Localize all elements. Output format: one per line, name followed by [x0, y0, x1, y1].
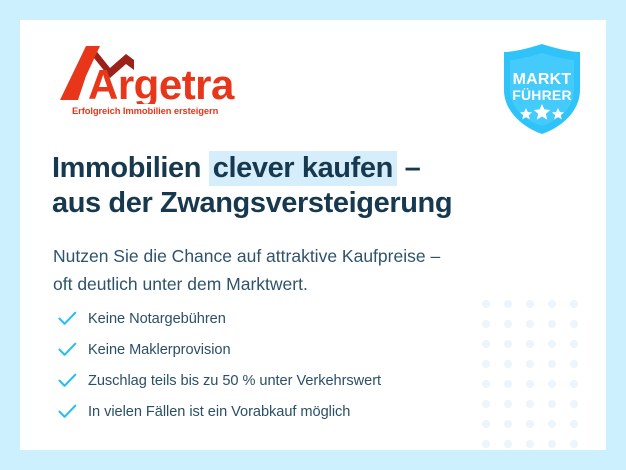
decorative-dot [548, 420, 556, 428]
list-item-label: Keine Maklerprovision [80, 342, 231, 358]
decorative-dot [504, 360, 512, 368]
decorative-dot [482, 400, 490, 408]
decorative-dot [548, 380, 556, 388]
decorative-dot [504, 300, 512, 308]
list-item: In vielen Fällen ist ein Vorabkauf mögli… [54, 396, 381, 427]
decorative-dot [548, 340, 556, 348]
decorative-dot [570, 360, 578, 368]
decorative-dot [526, 420, 534, 428]
decorative-dot [548, 440, 556, 448]
decorative-dot [548, 300, 556, 308]
check-icon [54, 308, 80, 330]
decorative-dot [570, 340, 578, 348]
page-subtitle: Nutzen Sie die Chance auf attraktive Kau… [53, 242, 573, 298]
decorative-dot [482, 320, 490, 328]
argetra-logo-icon: Argetra [56, 42, 246, 104]
headline-prefix: Immobilien [52, 152, 209, 184]
decorative-dot [526, 400, 534, 408]
headline-highlight: clever kaufen [209, 151, 397, 186]
decorative-dot [504, 340, 512, 348]
check-icon [54, 339, 80, 361]
check-icon [54, 370, 80, 392]
promo-banner: Argetra Erfolgreich Immobilien ersteiger… [0, 0, 626, 470]
decorative-dot [548, 360, 556, 368]
logo-tagline: Erfolgreich Immobilien ersteigern [72, 105, 218, 116]
decorative-dot [548, 400, 556, 408]
decorative-dot [482, 360, 490, 368]
check-icon [54, 401, 80, 423]
decorative-dot [504, 440, 512, 448]
decorative-dot [482, 420, 490, 428]
argetra-logo[interactable]: Argetra Erfolgreich Immobilien ersteiger… [56, 42, 246, 134]
decorative-dot [570, 420, 578, 428]
decorative-dot [570, 320, 578, 328]
badge-line1: MARKT [513, 71, 572, 88]
decorative-dot [570, 440, 578, 448]
list-item-label: Keine Notargebühren [80, 311, 226, 327]
svg-text:Argetra: Argetra [88, 61, 235, 104]
decorative-dot [526, 320, 534, 328]
page-title: Immobilien clever kaufen – aus der Zwang… [52, 151, 572, 221]
decorative-dot [504, 400, 512, 408]
decorative-dot [526, 360, 534, 368]
badge-line2: FÜHRER [512, 87, 572, 103]
benefit-list: Keine NotargebührenKeine Maklerprovision… [54, 303, 381, 427]
promo-card: Argetra Erfolgreich Immobilien ersteiger… [20, 20, 606, 450]
decorative-dot [526, 340, 534, 348]
subtitle-line-1: Nutzen Sie die Chance auf attraktive Kau… [53, 242, 573, 270]
decorative-dot [570, 300, 578, 308]
market-leader-badge: MARKT FÜHRER [494, 40, 590, 138]
list-item: Keine Notargebühren [54, 303, 381, 334]
subtitle-line-2: oft deutlich unter dem Marktwert. [53, 270, 573, 298]
decorative-dot [526, 300, 534, 308]
decorative-dot [570, 400, 578, 408]
decorative-dot [548, 320, 556, 328]
list-item-label: Zuschlag teils bis zu 50 % unter Verkehr… [80, 373, 381, 389]
headline-line-1: Immobilien clever kaufen – [52, 151, 572, 186]
list-item: Keine Maklerprovision [54, 334, 381, 365]
headline-line-2: aus der Zwangsversteigerung [52, 186, 572, 221]
decorative-dot [526, 380, 534, 388]
decorative-dot [504, 380, 512, 388]
decorative-dot [482, 440, 490, 448]
shield-icon: MARKT FÜHRER [494, 40, 590, 138]
decorative-dot [504, 320, 512, 328]
decorative-dot [526, 440, 534, 448]
decorative-dot [482, 380, 490, 388]
decorative-dot [482, 300, 490, 308]
decorative-dot [482, 340, 490, 348]
decorative-dot [570, 380, 578, 388]
dot-grid-decoration [482, 300, 592, 450]
decorative-dot [504, 420, 512, 428]
headline-suffix: – [397, 152, 420, 184]
list-item-label: In vielen Fällen ist ein Vorabkauf mögli… [80, 404, 350, 420]
list-item: Zuschlag teils bis zu 50 % unter Verkehr… [54, 365, 381, 396]
